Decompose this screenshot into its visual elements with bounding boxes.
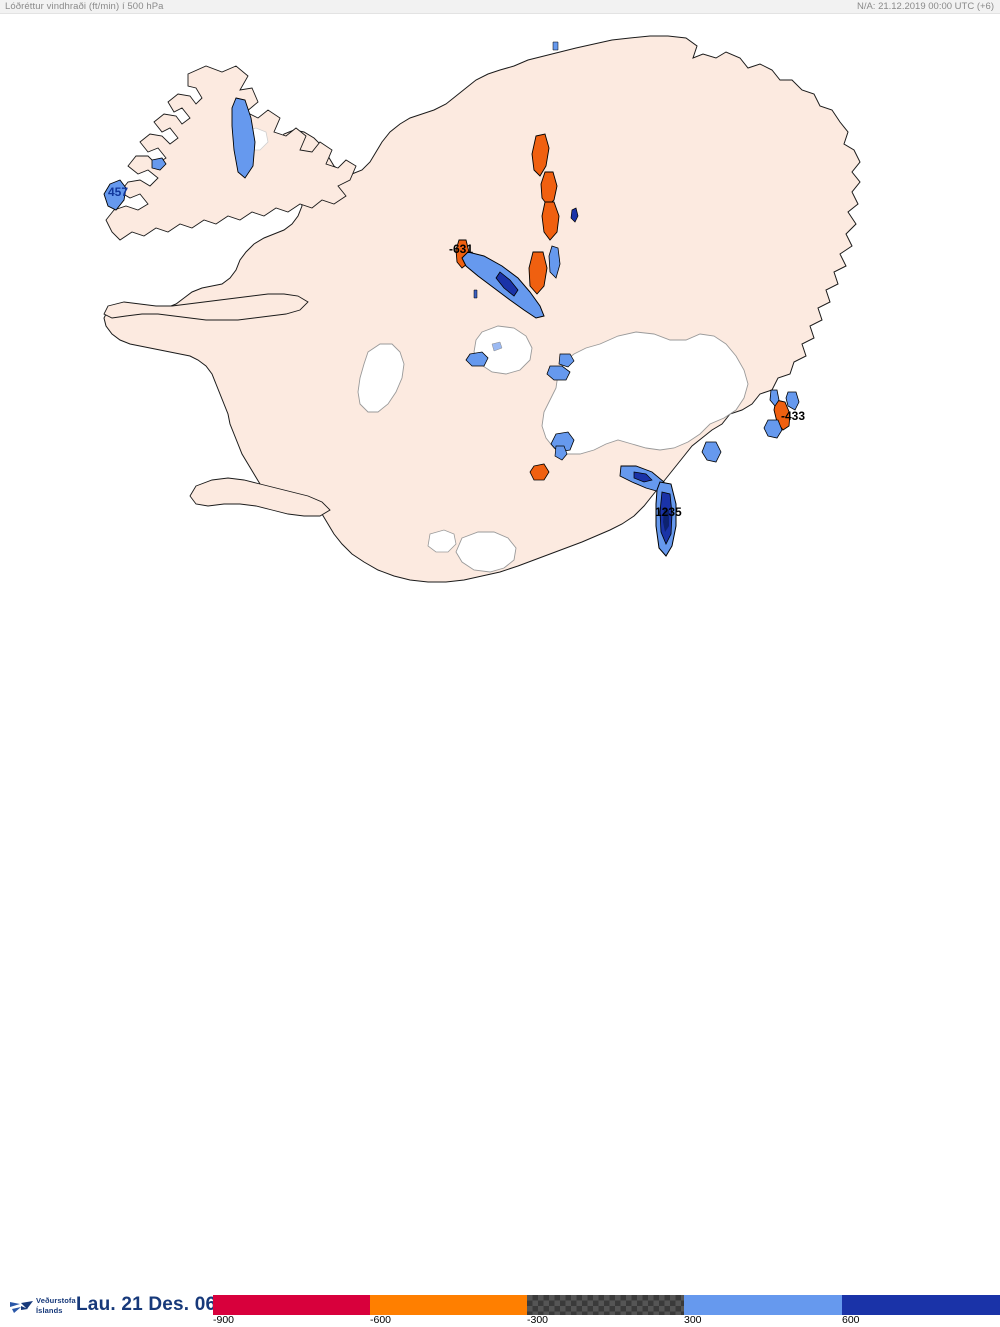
colorbar-ticks: -900 -600 -300 300 600 (213, 1315, 1000, 1327)
label-631: -631 (449, 242, 473, 256)
footer-bar: Veðurstofa Íslands Lau. 21 Des. 06:00 -9… (0, 644, 1000, 680)
vedurstofa-logo[interactable]: Veðurstofa Íslands (8, 1296, 78, 1318)
wind-barb-icon (8, 1298, 34, 1316)
colorbar-tick-600: 600 (842, 1315, 860, 1326)
colorbar[interactable] (213, 1295, 1000, 1315)
map-canvas[interactable]: 457 -631 -433 1235 (0, 14, 1000, 644)
colorbar-tick--900: -900 (213, 1315, 234, 1326)
colorbar-tick--300: -300 (527, 1315, 548, 1326)
colorbar-tick--600: -600 (370, 1315, 391, 1326)
logo-line-2: Íslands (36, 1306, 76, 1316)
iceland-map-svg[interactable]: 457 -631 -433 1235 (0, 14, 1000, 644)
header-bar: Lóðréttur vindhraði (ft/min) í 500 hPa N… (0, 0, 1000, 14)
logo-text: Veðurstofa Íslands (36, 1296, 76, 1315)
logo-line-1: Veðurstofa (36, 1296, 76, 1306)
page-title: Lóðréttur vindhraði (ft/min) í 500 hPa (5, 1, 164, 13)
label-433: -433 (781, 409, 805, 423)
colorbar-segment-light-blue[interactable] (684, 1295, 842, 1315)
updraft-cell-tiny-1[interactable] (474, 290, 477, 298)
colorbar-segment-orange[interactable] (370, 1295, 527, 1315)
updraft-cell-speck-1[interactable] (553, 42, 558, 50)
label-1235: 1235 (655, 505, 682, 519)
weather-map-page: Lóðréttur vindhraði (ft/min) í 500 hPa N… (0, 0, 1000, 680)
model-run-timestamp: N/A: 21.12.2019 00:00 UTC (+6) (857, 1, 994, 13)
colorbar-segment-dark-blue[interactable] (842, 1295, 1000, 1315)
colorbar-segment-crimson[interactable] (213, 1295, 370, 1315)
label-457: 457 (108, 185, 128, 199)
colorbar-segment-transparent[interactable] (527, 1295, 684, 1315)
colorbar-tick-300: 300 (684, 1315, 702, 1326)
